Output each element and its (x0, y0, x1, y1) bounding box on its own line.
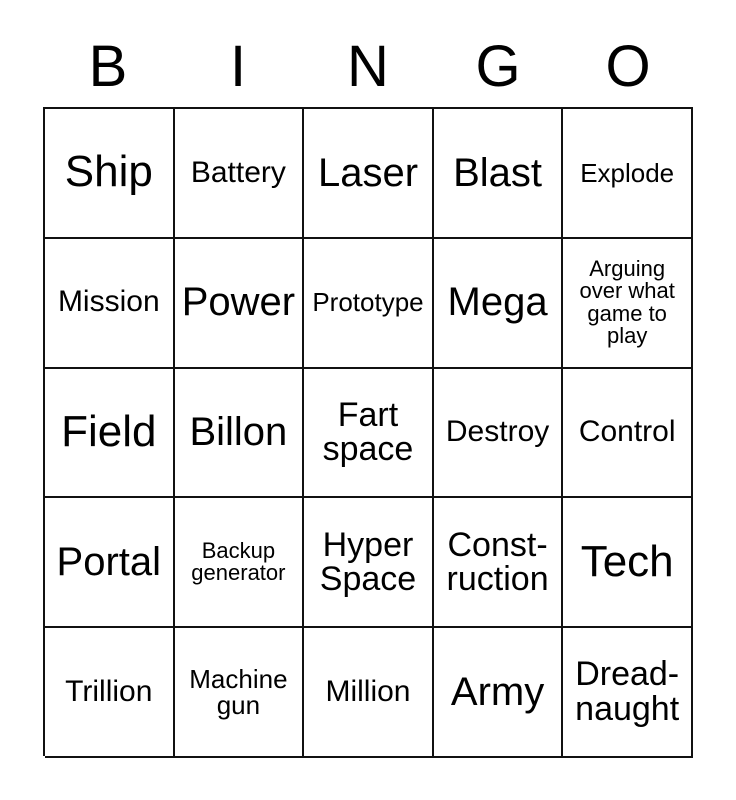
bingo-header-row: B I N G O (43, 26, 693, 107)
bingo-cell-label: Dread- naught (565, 657, 689, 726)
bingo-cell-label: Fart space (306, 398, 430, 467)
bingo-cell[interactable]: Billon (175, 369, 305, 499)
bingo-cell-label: Battery (177, 158, 301, 189)
bingo-grid: Ship Battery Laser Blast Explode Mission… (43, 107, 693, 756)
bingo-cell-label: Army (436, 672, 560, 713)
header-letter-text: I (230, 38, 246, 96)
bingo-cell-label: Prototype (306, 289, 430, 316)
bingo-cell[interactable]: Mega (434, 239, 564, 369)
bingo-cell-label: Hyper Space (306, 528, 430, 597)
bingo-cell[interactable]: Battery (175, 109, 305, 239)
bingo-cell[interactable]: Ship (45, 109, 175, 239)
bingo-cell-label: Mega (436, 282, 560, 323)
bingo-header-letter-i: I (173, 26, 303, 107)
bingo-row: Portal Backup generator Hyper Space Cons… (45, 498, 693, 628)
header-letter-text: G (475, 38, 520, 96)
bingo-header-letter-b: B (43, 26, 173, 107)
bingo-row: Mission Power Prototype Mega Arguing ove… (45, 239, 693, 369)
bingo-cell[interactable]: Portal (45, 498, 175, 628)
bingo-cell[interactable]: Field (45, 369, 175, 499)
bingo-cell[interactable]: Dread- naught (563, 628, 693, 758)
header-letter-text: N (347, 38, 389, 96)
bingo-cell[interactable]: Hyper Space (304, 498, 434, 628)
bingo-cell[interactable]: Tech (563, 498, 693, 628)
bingo-cell-label: Tech (565, 540, 689, 585)
header-letter-text: O (605, 38, 650, 96)
bingo-cell[interactable]: Power (175, 239, 305, 369)
bingo-header-letter-n: N (303, 26, 433, 107)
bingo-cell-label: Destroy (436, 417, 560, 448)
bingo-cell-label: Explode (565, 160, 689, 187)
bingo-cell[interactable]: Explode (563, 109, 693, 239)
bingo-cell[interactable]: Laser (304, 109, 434, 239)
bingo-cell-label: Const- ruction (436, 528, 560, 597)
bingo-cell[interactable]: Arguing over what game to play (563, 239, 693, 369)
bingo-header-letter-o: O (563, 26, 693, 107)
bingo-cell[interactable]: Machine gun (175, 628, 305, 758)
bingo-cell[interactable]: Backup generator (175, 498, 305, 628)
bingo-cell-label: Laser (306, 153, 430, 194)
bingo-cell-label: Billon (177, 412, 301, 453)
bingo-cell-label: Control (565, 417, 689, 448)
bingo-row: Field Billon Fart space Destroy Control (45, 369, 693, 499)
bingo-cell[interactable]: Fart space (304, 369, 434, 499)
bingo-cell[interactable]: Destroy (434, 369, 564, 499)
bingo-cell[interactable]: Mission (45, 239, 175, 369)
bingo-cell[interactable]: Blast (434, 109, 564, 239)
bingo-card: B I N G O Ship Battery Laser Blast Explo… (0, 0, 736, 800)
bingo-cell-label: Mission (47, 287, 171, 318)
bingo-cell-label: Machine gun (177, 666, 301, 719)
bingo-header-letter-g: G (433, 26, 563, 107)
bingo-cell-label: Field (47, 410, 171, 455)
bingo-cell[interactable]: Prototype (304, 239, 434, 369)
header-letter-text: B (89, 38, 128, 96)
bingo-cell-label: Arguing over what game to play (565, 258, 689, 348)
bingo-row: Ship Battery Laser Blast Explode (45, 109, 693, 239)
bingo-row: Trillion Machine gun Million Army Dread-… (45, 628, 693, 758)
bingo-cell[interactable]: Army (434, 628, 564, 758)
bingo-cell-label: Ship (47, 150, 171, 195)
bingo-cell-label: Trillion (47, 677, 171, 708)
bingo-cell-label: Blast (436, 153, 560, 194)
bingo-cell[interactable]: Control (563, 369, 693, 499)
bingo-cell-label: Million (306, 677, 430, 708)
bingo-cell-label: Portal (47, 542, 171, 583)
bingo-cell[interactable]: Million (304, 628, 434, 758)
bingo-cell[interactable]: Const- ruction (434, 498, 564, 628)
bingo-cell-label: Backup generator (177, 540, 301, 585)
bingo-cell-label: Power (177, 282, 301, 323)
bingo-cell[interactable]: Trillion (45, 628, 175, 758)
